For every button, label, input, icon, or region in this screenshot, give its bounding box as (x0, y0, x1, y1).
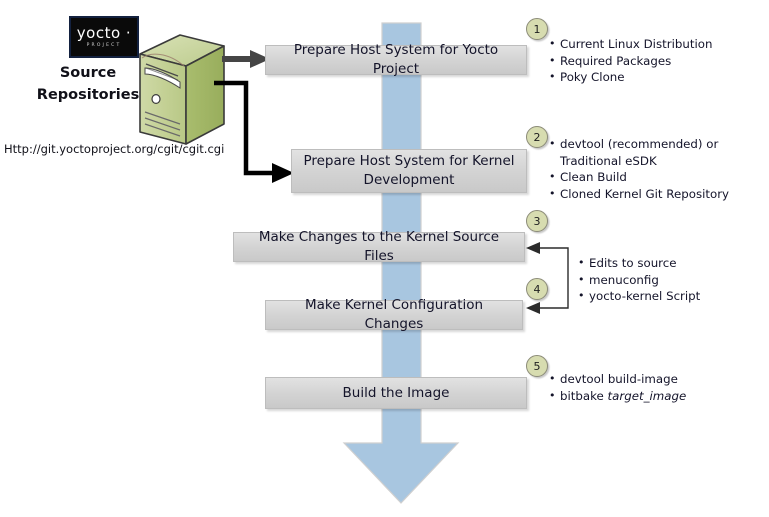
diagram-canvas: yocto · PROJECT Source Repositories Http… (0, 0, 769, 517)
process-box-step-5-label: Build the Image (343, 384, 450, 403)
step-number-badge-4: 4 (526, 278, 548, 300)
list-item: Edits to source (578, 255, 758, 272)
process-box-step-1[interactable]: Prepare Host System for Yocto Project (265, 45, 527, 75)
process-box-step-3-label: Make Changes to the Kernel Source Files (242, 228, 516, 266)
list-item: Poky Clone (549, 69, 764, 86)
step-number-1-text: 1 (534, 23, 541, 36)
process-box-step-1-label: Prepare Host System for Yocto Project (274, 41, 518, 79)
step-number-badge-5: 5 (526, 355, 548, 377)
process-box-step-4[interactable]: Make Kernel Configuration Changes (265, 300, 523, 330)
list-item: devtool (recommended) or Traditional eSD… (549, 136, 764, 169)
bullet-list-step-1: Current Linux Distribution Required Pack… (549, 36, 764, 86)
list-item: menuconfig (578, 272, 758, 289)
list-item: Clean Build (549, 169, 764, 186)
step-number-3-text: 3 (534, 215, 541, 228)
bullet-list-step-2: devtool (recommended) or Traditional eSD… (549, 136, 764, 202)
list-item: yocto-kernel Script (578, 288, 758, 305)
bitbake-target-image-italic: target_image (608, 389, 687, 403)
logo-sub-text: PROJECT (87, 42, 122, 49)
process-box-step-2[interactable]: Prepare Host System for Kernel Developme… (291, 149, 527, 193)
yocto-project-logo: yocto · PROJECT (69, 16, 139, 58)
source-label-line-2: Repositories (30, 84, 146, 106)
process-box-step-5[interactable]: Build the Image (265, 377, 527, 409)
step-number-badge-3: 3 (526, 210, 548, 232)
list-item: bitbake target_image (549, 388, 764, 405)
step-number-4-text: 4 (534, 283, 541, 296)
process-box-step-2-label: Prepare Host System for Kernel Developme… (300, 152, 518, 190)
source-label-line-1: Source (30, 62, 146, 84)
process-box-step-4-label: Make Kernel Configuration Changes (274, 296, 514, 334)
logo-main-text: yocto · (77, 26, 131, 41)
step-number-badge-2: 2 (526, 126, 548, 148)
list-item: devtool build-image (549, 371, 764, 388)
list-item: Current Linux Distribution (549, 36, 764, 53)
process-box-step-3[interactable]: Make Changes to the Kernel Source Files (233, 232, 525, 262)
step-number-2-text: 2 (534, 131, 541, 144)
source-repositories-label: Source Repositories (30, 62, 146, 106)
bitbake-command-prefix: bitbake (560, 389, 608, 403)
server-tower-icon (134, 32, 230, 148)
step-number-5-text: 5 (534, 360, 541, 373)
bullet-list-step-5: devtool build-image bitbake target_image (549, 371, 764, 404)
bullet-list-steps-3-4: Edits to source menuconfig yocto-kernel … (578, 255, 758, 305)
list-item: Cloned Kernel Git Repository (549, 186, 764, 203)
step-number-badge-1: 1 (526, 18, 548, 40)
list-item: Required Packages (549, 53, 764, 70)
